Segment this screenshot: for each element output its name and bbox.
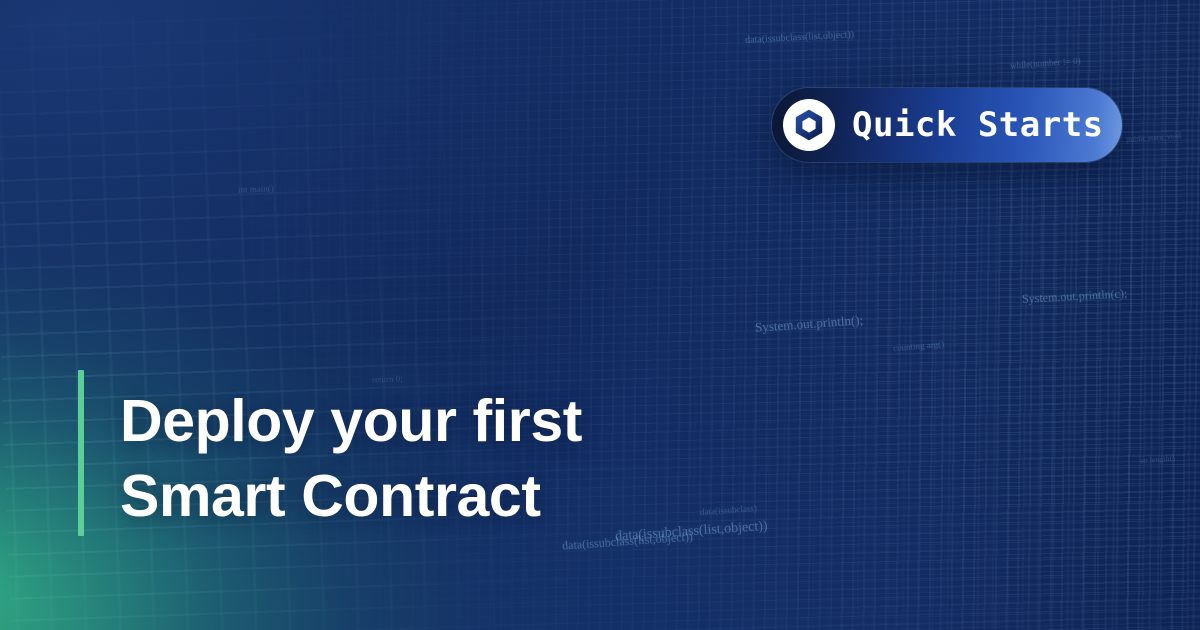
- headline-accent-bar: [78, 370, 84, 536]
- chainlink-hexagon-icon: [783, 99, 835, 151]
- quickstarts-hero-banner: data(issubclass(list,object))while(numbe…: [0, 0, 1200, 630]
- quickstarts-badge-label: Quick Starts: [852, 108, 1104, 142]
- headline-block: Deploy your first Smart Contract: [78, 370, 582, 536]
- page-title: Deploy your first Smart Contract: [120, 370, 582, 536]
- quickstarts-badge[interactable]: Quick Starts: [772, 88, 1122, 162]
